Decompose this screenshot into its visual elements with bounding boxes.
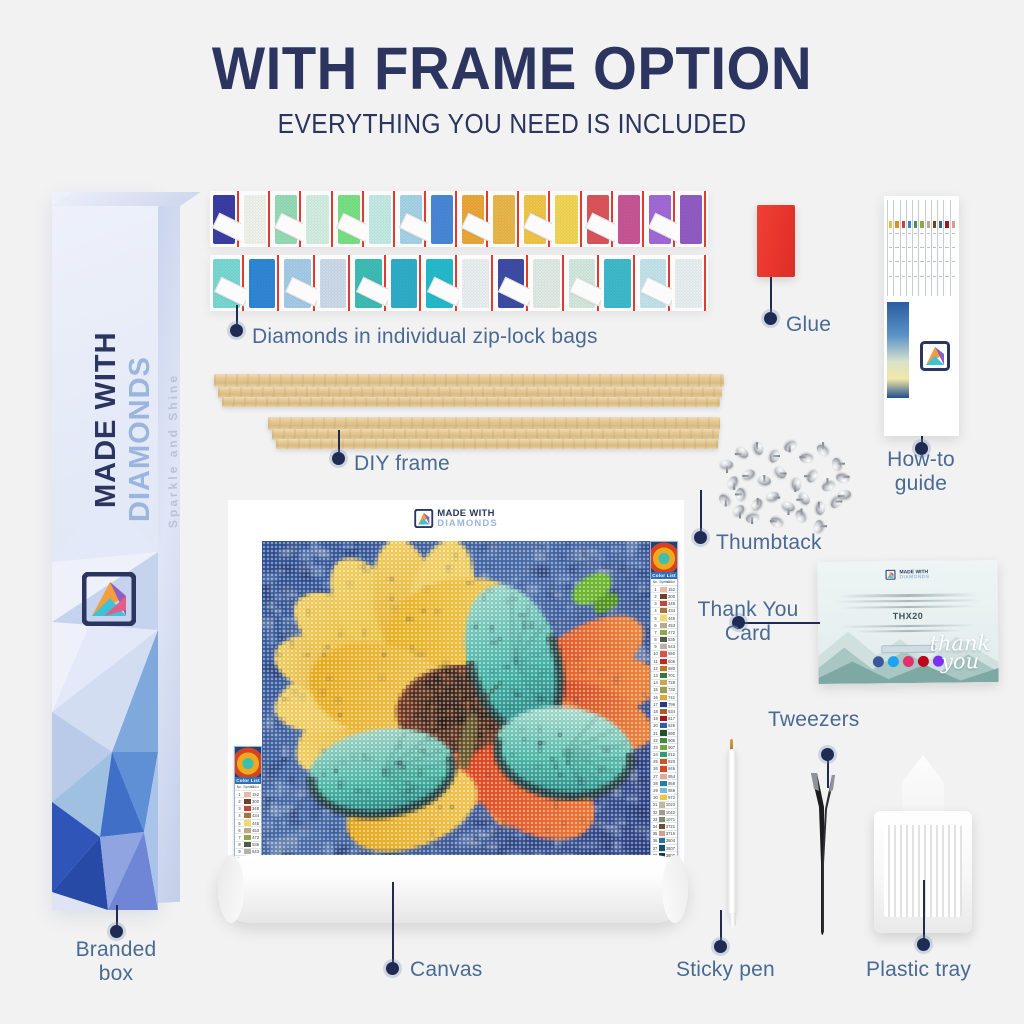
color-list-legend-right: Color ListNo.SymbolColor1152230033484434… <box>650 541 678 859</box>
ziplock-bag <box>210 191 241 247</box>
legend-row: 13701 <box>651 672 677 679</box>
thumbtack <box>781 500 796 513</box>
label-bags: Diamonds in individual zip-lock bags <box>252 325 598 349</box>
label-guide: How-to guide <box>861 448 981 497</box>
thumbtack <box>731 503 747 519</box>
legend-row: 22906 <box>651 737 677 744</box>
dot-tray <box>917 938 930 951</box>
card-thankyou-script: thankyou <box>929 634 990 671</box>
legend-row: 373807 <box>651 845 677 852</box>
leader-frame <box>338 430 340 453</box>
color-list-legend-left: Color ListNo.SymbolColor1152230033484434… <box>234 746 262 859</box>
ziplock-bag <box>459 191 490 247</box>
leader-tweezers <box>827 760 829 788</box>
legend-row: 28958 <box>651 780 677 787</box>
ziplock-bag <box>428 191 459 247</box>
canvas-logo: MADE WITH DIAMONDS <box>414 509 498 528</box>
label-pen: Sticky pen <box>676 958 775 982</box>
box-tagline: Sparkle and Shine <box>166 373 180 529</box>
legend-row: 321042 <box>651 809 677 816</box>
social-icon[interactable] <box>903 656 914 667</box>
guide-cover-photo <box>887 302 909 398</box>
box-front-face: MADE WITH DIAMONDS <box>52 192 158 910</box>
label-thankyou: Thank You Card <box>686 598 810 647</box>
card-message: THX20 <box>832 590 984 636</box>
ziplock-bag <box>490 191 521 247</box>
ziplock-bag <box>677 191 708 247</box>
label-canvas: Canvas <box>410 958 482 982</box>
thumbtack <box>821 480 836 493</box>
sticky-pen <box>726 737 738 927</box>
guide-color-table <box>887 200 956 296</box>
ziplock-bag <box>566 255 602 311</box>
card-brand-line2: DIAMONDS <box>899 574 929 579</box>
legend-row: 27954 <box>651 773 677 780</box>
ziplock-bag <box>521 191 552 247</box>
guide-table-column <box>950 200 956 296</box>
leader-tray <box>923 880 925 938</box>
dot-glue <box>764 312 777 325</box>
legend-header-row: No.SymbolColor <box>651 579 677 586</box>
legend-row: 30972 <box>651 795 677 802</box>
legend-row: 14728 <box>651 680 677 687</box>
legend-row: 18834 <box>651 708 677 715</box>
legend-row: 12680 <box>651 665 677 672</box>
card-logo: MADE WITH DIAMONDS <box>885 569 929 581</box>
branded-box: MADE WITH DIAMONDS Sparkle and Shine <box>52 192 180 910</box>
thumbtack <box>765 490 780 502</box>
ziplock-bag <box>646 191 677 247</box>
ziplock-bag <box>281 255 317 311</box>
social-icon[interactable] <box>873 656 884 667</box>
label-thumbtack: Thumbtack <box>716 531 822 555</box>
leader-glue <box>770 277 772 312</box>
thumbtack <box>793 509 807 525</box>
thumbtack <box>800 453 814 463</box>
legend-row: 353716 <box>651 831 677 838</box>
legend-row: 24912 <box>651 752 677 759</box>
thumbtack <box>838 489 852 500</box>
thumbtack <box>797 491 812 507</box>
legend-row: 5445 <box>651 615 677 622</box>
card-handle-badge <box>881 645 935 654</box>
ziplock-bag <box>246 255 282 311</box>
legend-row: 8535 <box>235 842 261 849</box>
ziplock-bag <box>335 191 366 247</box>
box-side-face: Sparkle and Shine <box>158 198 180 903</box>
legend-title: Color List <box>651 572 677 579</box>
leader-bags <box>236 305 238 325</box>
legend-row: 6453 <box>651 622 677 629</box>
legend-row: 3348 <box>235 806 261 813</box>
thumbtack <box>749 497 764 513</box>
thumbtack-pile <box>712 438 852 530</box>
ziplock-bag <box>601 255 637 311</box>
leader-branded-box <box>116 905 118 927</box>
legend-row: 2300 <box>651 593 677 600</box>
dot-canvas <box>386 962 399 975</box>
legend-row: 25920 <box>651 759 677 766</box>
social-icon[interactable] <box>918 656 929 667</box>
legend-thumbnail <box>651 542 677 572</box>
thumbtack <box>741 468 757 482</box>
legend-row: 3348 <box>651 601 677 608</box>
tweezers <box>805 745 839 940</box>
thumbtack <box>835 472 850 484</box>
thumbtack <box>768 449 781 464</box>
box-top-face <box>52 192 201 206</box>
thumbtack <box>752 441 764 456</box>
legend-row: 9543 <box>651 644 677 651</box>
ziplock-bag-row-top <box>210 191 708 247</box>
box-brand-line2: DIAMONDS <box>124 356 157 522</box>
legend-row: 343721 <box>651 823 677 830</box>
ziplock-bag <box>366 191 397 247</box>
label-branded-box: Branded box <box>56 938 176 987</box>
legend-row: 19817 <box>651 716 677 723</box>
ziplock-bag <box>552 191 583 247</box>
thumbtack <box>745 513 760 525</box>
pen-body <box>728 749 736 917</box>
rolled-canvas <box>218 855 688 923</box>
legend-row: 5445 <box>235 820 261 827</box>
ziplock-bag <box>317 255 353 311</box>
ziplock-bag <box>388 255 424 311</box>
thumbtack <box>736 488 745 501</box>
legend-row: 6453 <box>235 827 261 834</box>
how-to-guide <box>884 196 959 436</box>
thumbtack <box>769 516 785 530</box>
box-logo <box>82 572 136 626</box>
canvas-artwork <box>262 541 650 859</box>
ziplock-bag <box>352 255 388 311</box>
label-glue: Glue <box>786 313 831 337</box>
box-brand-line1: MADE WITH <box>90 331 123 508</box>
thank-you-card: MADE WITH DIAMONDS THX20 thankyou <box>817 560 998 684</box>
dot-bags <box>230 324 243 337</box>
thumbtack <box>720 460 733 469</box>
thumbtack <box>816 502 826 516</box>
dot-thumbtack <box>694 531 707 544</box>
thumbtack <box>773 465 788 481</box>
legend-row: 1152 <box>651 586 677 593</box>
glue-stick <box>757 205 795 277</box>
legend-row: 23907 <box>651 744 677 751</box>
thumbtack <box>735 445 751 460</box>
leader-pen <box>720 910 722 940</box>
dot-tweezers <box>821 748 834 761</box>
infographic-canvas: WITH FRAME OPTION EVERYTHING YOU NEED IS… <box>0 0 1024 1024</box>
thumbtack <box>805 469 819 485</box>
legend-row: 15732 <box>651 687 677 694</box>
page-subtitle: EVERYTHING YOU NEED IS INCLUDED <box>61 108 962 140</box>
canvas-brand-line2: DIAMONDS <box>437 519 498 529</box>
legend-row: 331071 <box>651 816 677 823</box>
legend-row: 17796 <box>651 701 677 708</box>
ziplock-bag <box>672 255 708 311</box>
leader-thumbtack <box>700 490 702 532</box>
label-tray: Plastic tray <box>866 958 971 982</box>
legend-row: 11606 <box>651 658 677 665</box>
leader-canvas <box>392 882 394 964</box>
legend-row: 7472 <box>235 834 261 841</box>
ziplock-bag <box>584 191 615 247</box>
thumbtack <box>815 443 831 458</box>
legend-row: 1152 <box>235 791 261 798</box>
social-icon[interactable] <box>888 656 899 667</box>
legend-row: 20825 <box>651 723 677 730</box>
ziplock-bag <box>241 191 272 247</box>
page-title: WITH FRAME OPTION <box>31 34 994 103</box>
legend-row: 2300 <box>235 798 261 805</box>
legend-title: Color List <box>235 777 261 784</box>
tweezers-shape <box>805 745 839 940</box>
legend-row: 29959 <box>651 787 677 794</box>
ziplock-bag <box>210 255 246 311</box>
guide-logo <box>920 341 950 371</box>
dot-branded-box <box>110 925 123 938</box>
ziplock-bag <box>495 255 531 311</box>
canvas-sheet: MADE WITH DIAMONDS Color ListNo.SymbolCo… <box>228 500 684 872</box>
thumbtack <box>757 475 771 486</box>
ziplock-bag <box>459 255 495 311</box>
card-discount-code: THX20 <box>832 610 984 622</box>
ziplock-bag <box>530 255 566 311</box>
thumbtack <box>717 493 732 509</box>
thumbtack <box>831 457 842 471</box>
legend-row: 311023 <box>651 802 677 809</box>
dot-pen <box>714 940 727 953</box>
label-tweezers: Tweezers <box>768 708 859 732</box>
ziplock-bag <box>615 191 646 247</box>
ziplock-bag <box>397 191 428 247</box>
label-frame: DIY frame <box>354 452 450 476</box>
ziplock-bag <box>637 255 673 311</box>
legend-row: 4434 <box>235 813 261 820</box>
legend-header-row: No.SymbolColor <box>235 784 261 791</box>
legend-row: 16741 <box>651 694 677 701</box>
legend-row: 363804 <box>651 838 677 845</box>
dot-frame <box>332 452 345 465</box>
legend-row: 21890 <box>651 730 677 737</box>
legend-row: 26946 <box>651 766 677 773</box>
ziplock-bag <box>303 191 334 247</box>
legend-row: 7472 <box>651 629 677 636</box>
legend-thumbnail <box>235 747 261 777</box>
legend-row: 10550 <box>651 651 677 658</box>
legend-row: 8535 <box>651 637 677 644</box>
thumbtack <box>791 478 801 492</box>
thumbtack <box>783 439 799 454</box>
legend-row: 4434 <box>651 608 677 615</box>
ziplock-bag-row-bottom <box>210 255 708 311</box>
ziplock-bag <box>423 255 459 311</box>
pen-foot <box>729 913 736 927</box>
ziplock-bag <box>272 191 303 247</box>
